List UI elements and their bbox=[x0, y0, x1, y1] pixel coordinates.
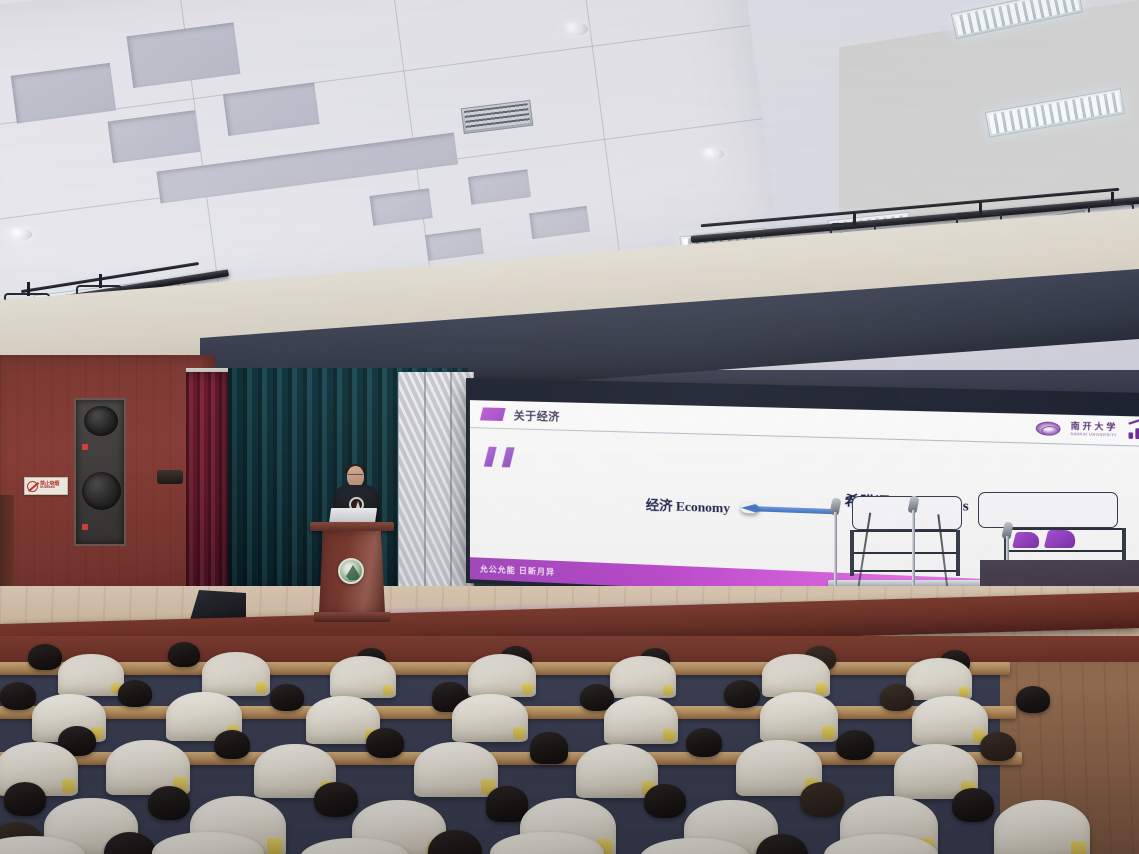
audience-head bbox=[644, 784, 686, 818]
speaker-indicator-led bbox=[82, 444, 88, 450]
lectern bbox=[314, 522, 390, 622]
audience-head bbox=[724, 680, 760, 708]
university-name-cn: 南开大学 bbox=[1071, 422, 1119, 432]
audience-head bbox=[800, 782, 844, 817]
presenter-glasses bbox=[348, 474, 363, 478]
acoustic-panel-seam bbox=[424, 372, 426, 620]
slide-term-economy: 经济 Economy bbox=[646, 494, 730, 516]
wall-loudspeaker bbox=[74, 398, 126, 546]
seat bbox=[576, 744, 658, 798]
seat bbox=[760, 692, 838, 742]
lectern-top bbox=[310, 522, 394, 531]
slide-title-marker-icon bbox=[480, 407, 506, 421]
seat bbox=[414, 742, 498, 797]
slide-title: 关于经济 bbox=[514, 407, 560, 424]
audience-head bbox=[214, 730, 250, 759]
recessed-downlight bbox=[700, 148, 724, 160]
audience-seating bbox=[0, 636, 1139, 854]
no-smoking-label-en: NO SMOKING bbox=[40, 487, 59, 490]
audience-head bbox=[836, 730, 874, 760]
recessed-downlight bbox=[6, 228, 32, 241]
seat bbox=[762, 654, 830, 697]
audience-head bbox=[28, 644, 62, 670]
slide-header: 关于经济 南开大学 NANKAI UNIVERSITY bbox=[470, 400, 1139, 447]
audience-head bbox=[952, 788, 994, 822]
no-smoking-sign: 禁止吸烟 NO SMOKING bbox=[24, 477, 68, 495]
no-smoking-icon bbox=[27, 481, 38, 492]
slide-quote-mark-icon bbox=[484, 447, 515, 468]
audience-head bbox=[314, 782, 358, 817]
audience-head bbox=[980, 732, 1016, 761]
lectern-base bbox=[314, 612, 390, 622]
audience-head bbox=[0, 682, 36, 710]
seat bbox=[610, 656, 676, 698]
seat bbox=[994, 800, 1090, 854]
university-motto: 允公允能 日新月异 bbox=[480, 563, 555, 577]
seat bbox=[604, 696, 678, 744]
acoustic-panel-seam bbox=[450, 372, 452, 620]
riser-purple-accent bbox=[1044, 530, 1078, 548]
audience-head bbox=[880, 684, 914, 711]
audience-head bbox=[148, 786, 190, 820]
acoustic-wall-panel bbox=[398, 372, 474, 620]
riser-purple-accent bbox=[1012, 532, 1042, 548]
audience-head bbox=[366, 728, 404, 758]
bar-chart-logo-icon bbox=[1129, 423, 1139, 440]
seat bbox=[468, 654, 536, 697]
slide-logo-group: 南开大学 NANKAI UNIVERSITY bbox=[1036, 420, 1139, 439]
university-wordmark: 南开大学 NANKAI UNIVERSITY bbox=[1071, 422, 1119, 437]
nankai-university-seal-icon bbox=[1036, 421, 1061, 435]
audience-head bbox=[686, 728, 722, 757]
audience-head bbox=[4, 782, 46, 816]
seat bbox=[58, 654, 124, 696]
audience-head bbox=[270, 684, 304, 711]
riser-backdrop-panel bbox=[978, 492, 1118, 528]
university-name-en: NANKAI UNIVERSITY bbox=[1071, 432, 1119, 437]
audience-head bbox=[530, 732, 568, 764]
audience-head bbox=[118, 680, 152, 707]
audience-head bbox=[168, 642, 200, 667]
speaker-cone-upper bbox=[84, 406, 118, 436]
audience-head bbox=[1016, 686, 1050, 713]
auditorium-scene: 禁止吸烟 NO SMOKING 关于经济 南开大学 NANKAI UNIVERS… bbox=[0, 0, 1139, 854]
school-crest-icon bbox=[338, 558, 364, 584]
seat bbox=[906, 658, 972, 700]
red-stage-curtain bbox=[186, 372, 232, 622]
speaker-cone-lower bbox=[82, 472, 121, 510]
stage-monitor-speaker bbox=[190, 590, 246, 620]
seat bbox=[912, 696, 988, 745]
wall-mount-bracket bbox=[157, 470, 183, 484]
slide-left-arrow-icon bbox=[741, 503, 834, 516]
speaker-indicator-led bbox=[82, 524, 88, 530]
seat bbox=[202, 652, 270, 696]
seat bbox=[330, 656, 396, 698]
recessed-downlight bbox=[560, 22, 588, 36]
seat bbox=[452, 694, 528, 742]
